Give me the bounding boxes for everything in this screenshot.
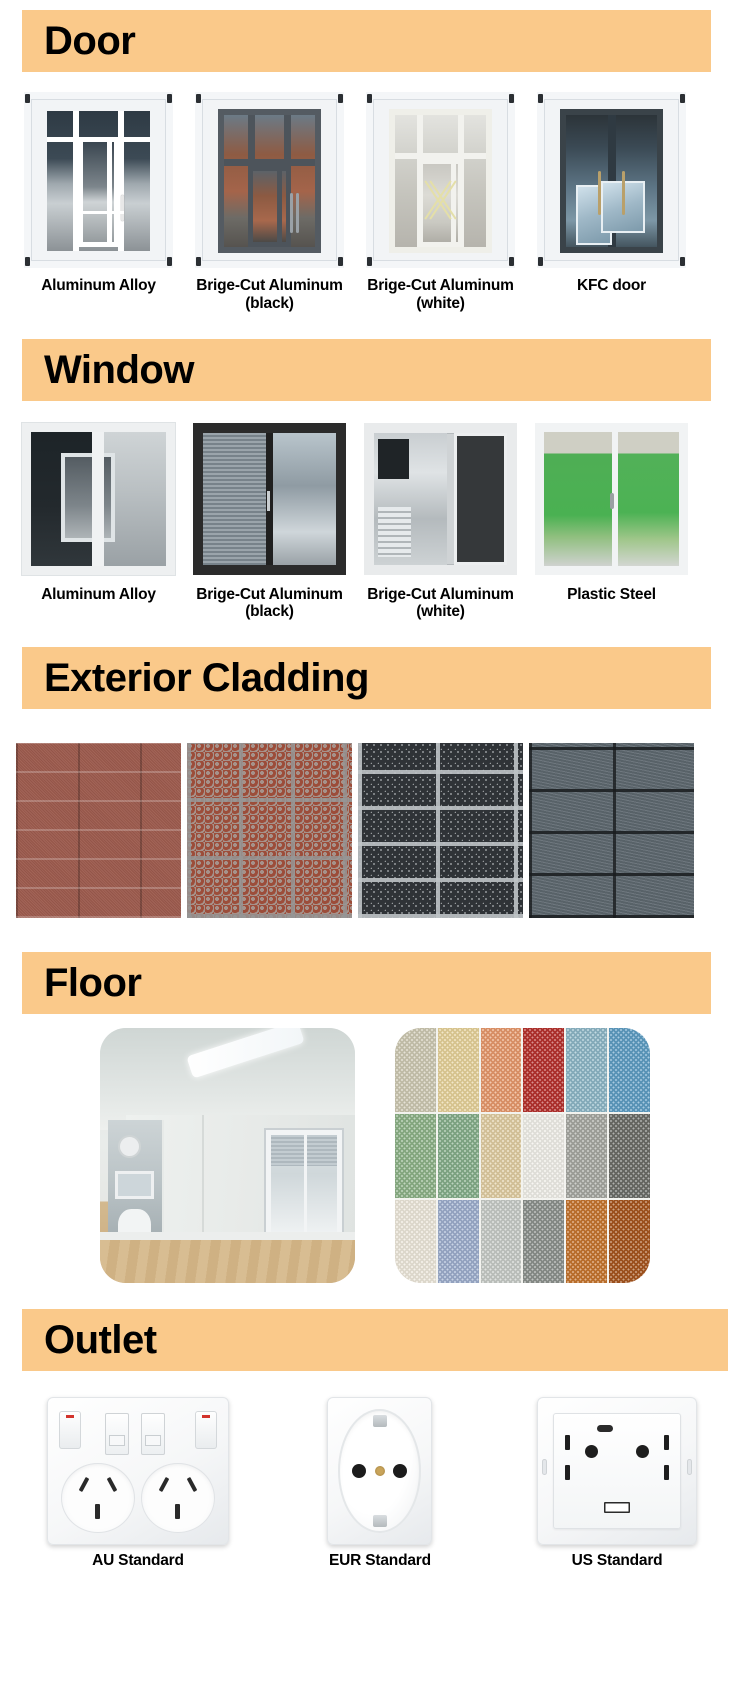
door-caption-2-line2: (black) (245, 295, 294, 312)
product-card-window-plastic-steel[interactable]: Plastic Steel (529, 419, 694, 622)
floor-color-swatch[interactable] (566, 1028, 607, 1112)
floor-color-swatch[interactable] (523, 1028, 564, 1112)
outlet-au-standard-image (47, 1397, 229, 1545)
floor-color-swatch[interactable] (609, 1200, 650, 1284)
outlet-caption-eur: EUR Standard (329, 1552, 431, 1570)
product-card-window-aluminum-alloy[interactable]: Aluminum Alloy (16, 419, 181, 622)
floor-color-swatch[interactable] (395, 1028, 436, 1112)
outlet-caption-au: AU Standard (92, 1552, 184, 1570)
door-caption-2: Brige-Cut Aluminum (black) (196, 277, 343, 313)
section-header-door: Door (22, 10, 711, 72)
product-card-window-bridge-cut-white[interactable]: Brige-Cut Aluminum (white) (358, 419, 523, 622)
cladding-swatch-slate-gray[interactable] (529, 743, 694, 918)
window-caption-4: Plastic Steel (567, 586, 656, 604)
floor-product-row (0, 1028, 750, 1283)
door-caption-2-line1: Brige-Cut Aluminum (196, 277, 343, 294)
floor-interior-room-photo[interactable] (100, 1028, 355, 1283)
outlet-eur-standard-image (327, 1397, 432, 1545)
window-bridge-cut-white-image (358, 419, 523, 579)
section-header-outlet: Outlet (22, 1309, 728, 1371)
door-caption-3-line1: Brige-Cut Aluminum (367, 277, 514, 294)
floor-color-swatch[interactable] (481, 1114, 522, 1198)
door-caption-1: Aluminum Alloy (41, 277, 156, 295)
floor-color-swatch[interactable] (566, 1200, 607, 1284)
window-caption-1: Aluminum Alloy (41, 586, 156, 604)
window-product-row: Aluminum Alloy Brige-Cut Aluminum (black… (0, 419, 750, 622)
outlet-caption-us: US Standard (572, 1552, 663, 1570)
cladding-swatch-rust-mosaic[interactable] (187, 743, 352, 918)
window-caption-2: Brige-Cut Aluminum (black) (196, 586, 343, 622)
floor-color-swatch[interactable] (395, 1200, 436, 1284)
window-aluminum-alloy-image (16, 419, 181, 579)
product-card-outlet-au[interactable]: AU Standard (14, 1397, 262, 1570)
door-kfc-image (529, 90, 694, 270)
section-title-exterior-cladding: Exterior Cladding (44, 658, 369, 698)
floor-color-swatch[interactable] (481, 1200, 522, 1284)
window-caption-3: Brige-Cut Aluminum (white) (367, 586, 514, 622)
floor-color-swatch[interactable] (609, 1028, 650, 1112)
floor-color-swatch[interactable] (523, 1114, 564, 1198)
section-title-window: Window (44, 350, 194, 390)
floor-color-swatch[interactable] (395, 1114, 436, 1198)
product-card-door-aluminum-alloy[interactable]: Aluminum Alloy (16, 90, 181, 313)
cladding-product-row (0, 743, 750, 918)
section-title-floor: Floor (44, 963, 141, 1003)
floor-color-swatch[interactable] (438, 1114, 479, 1198)
window-caption-3-line1: Brige-Cut Aluminum (367, 586, 514, 603)
catalog-page: Door Alumi (0, 0, 750, 1596)
door-product-row: Aluminum Alloy (0, 90, 750, 313)
floor-vinyl-color-swatches[interactable] (395, 1028, 650, 1283)
product-card-outlet-us[interactable]: US Standard (498, 1397, 736, 1570)
floor-color-swatch[interactable] (566, 1114, 607, 1198)
cladding-swatch-red-brick[interactable] (16, 743, 181, 918)
cladding-swatch-charcoal-speckle[interactable] (358, 743, 523, 918)
window-caption-2-line2: (black) (245, 603, 294, 620)
product-card-door-bridge-cut-white[interactable]: Brige-Cut Aluminum (white) (358, 90, 523, 313)
floor-color-swatch[interactable] (481, 1028, 522, 1112)
window-caption-2-line1: Brige-Cut Aluminum (196, 586, 343, 603)
section-title-outlet: Outlet (44, 1320, 157, 1360)
window-caption-3-line2: (white) (416, 603, 465, 620)
outlet-product-row: AU Standard EUR Standard (0, 1397, 750, 1570)
section-header-window: Window (22, 339, 711, 401)
door-caption-3: Brige-Cut Aluminum (white) (367, 277, 514, 313)
window-bridge-cut-black-image (187, 419, 352, 579)
product-card-door-bridge-cut-black[interactable]: Brige-Cut Aluminum (black) (187, 90, 352, 313)
section-header-floor: Floor (22, 952, 711, 1014)
door-bridge-cut-white-image (358, 90, 523, 270)
floor-color-swatch[interactable] (609, 1114, 650, 1198)
floor-color-swatch[interactable] (438, 1028, 479, 1112)
section-title-door: Door (44, 21, 135, 61)
floor-color-swatch[interactable] (523, 1200, 564, 1284)
product-card-outlet-eur[interactable]: EUR Standard (276, 1397, 484, 1570)
door-aluminum-alloy-image (16, 90, 181, 270)
door-caption-3-line2: (white) (416, 295, 465, 312)
door-bridge-cut-black-image (187, 90, 352, 270)
floor-color-swatch[interactable] (438, 1200, 479, 1284)
product-card-door-kfc[interactable]: KFC door (529, 90, 694, 313)
outlet-us-standard-image (537, 1397, 697, 1545)
section-header-exterior-cladding: Exterior Cladding (22, 647, 711, 709)
product-card-window-bridge-cut-black[interactable]: Brige-Cut Aluminum (black) (187, 419, 352, 622)
door-caption-4: KFC door (577, 277, 646, 295)
window-plastic-steel-image (529, 419, 694, 579)
